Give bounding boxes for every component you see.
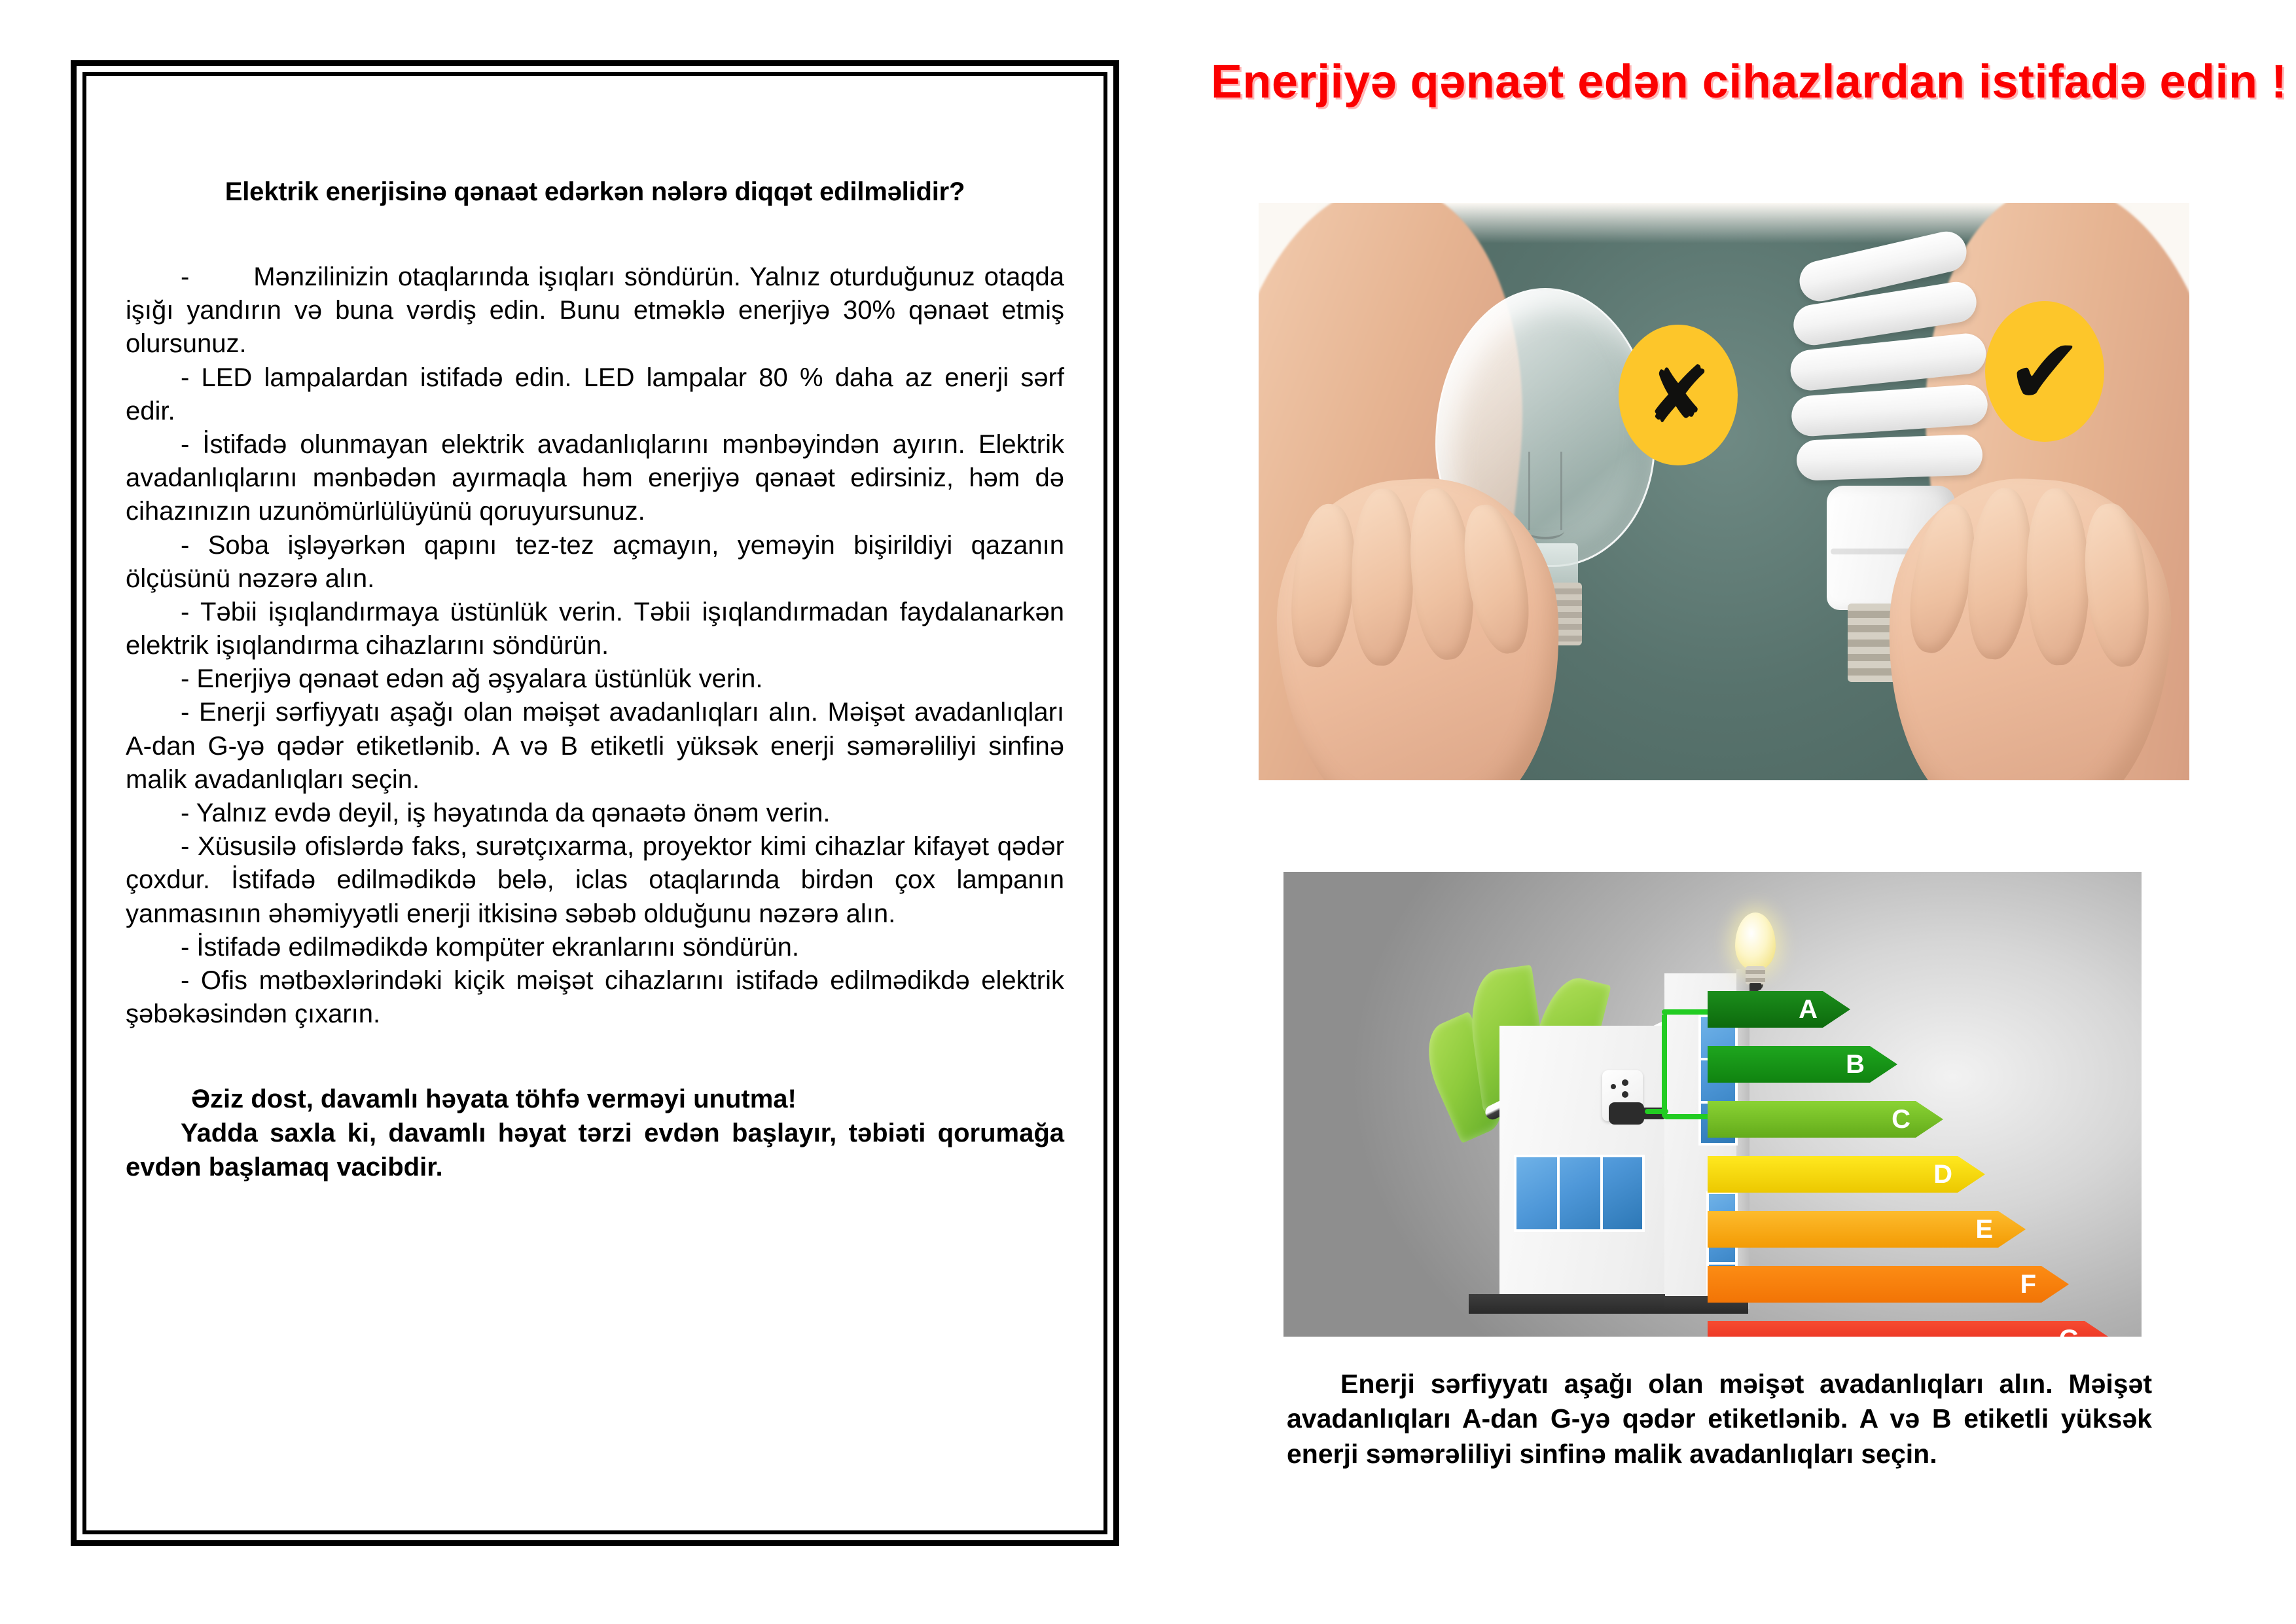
tip-item: - Ofis mətbəxlərindəki kiçik məişət ciha…: [126, 964, 1064, 1031]
tip-item: - Təbii işıqlandırmaya üstünlük verin. T…: [126, 596, 1064, 662]
cfl-coil: [1784, 242, 2006, 504]
socket-hole: [1611, 1084, 1616, 1089]
plug-icon: [1609, 1102, 1644, 1125]
house-foundation: [1469, 1294, 1665, 1314]
tip-item: - Enerjiyə qənaət edən ağ əşyalara üstün…: [126, 662, 1064, 696]
energy-bar-F: F: [1708, 1266, 2069, 1303]
energy-bar-label: C: [1892, 1105, 1910, 1134]
document-content: Elektrik enerjisinə qənaət edərkən nələr…: [86, 76, 1103, 1530]
energy-bar-E: E: [1708, 1211, 2026, 1248]
energy-bar-A: A: [1708, 991, 1850, 1028]
socket-hole: [1622, 1079, 1628, 1086]
tip-item: - Xüsusilə ofislərdə faks, surətçıxarma,…: [126, 830, 1064, 931]
poster-title: Enerjiyə qənaət edən cihazlardan istifad…: [1211, 55, 2258, 109]
tip-item: - İstifadə olunmayan elektrik avadanlıql…: [126, 428, 1064, 529]
document-panel: Elektrik enerjisinə qənaət edərkən nələr…: [71, 60, 1119, 1546]
cross-badge-icon: ✘: [1619, 325, 1738, 465]
caption-text: Enerji sərfiyyatı aşağı olan məişət avad…: [1287, 1367, 2152, 1471]
finger: [1350, 488, 1415, 666]
filament: [1528, 452, 1562, 530]
tip-item: - LED lampalardan istifadə edin. LED lam…: [126, 361, 1064, 428]
energy-bar-G: G: [1708, 1321, 2112, 1337]
finger: [2026, 488, 2090, 666]
tip-item: - Yalnız evdə deyil, iş həyatında da qən…: [126, 797, 1064, 830]
check-badge-icon: ✔: [1985, 301, 2104, 442]
energy-bar-label: A: [1799, 995, 1818, 1024]
incandescent-vs-cfl-bulbs-photo: ✘ ✔: [1259, 203, 2189, 780]
coil-turn: [1790, 384, 1989, 438]
tips-list: - Mənzilinizin otaqlarında işıqları sönd…: [126, 261, 1064, 1031]
tip-item: - İstifadə edilmədikdə kompüter ekranlar…: [126, 931, 1064, 964]
socket-hole: [1622, 1091, 1628, 1098]
closing-line: Əziz dost, davamlı həyata töhfə verməyi …: [126, 1082, 1064, 1116]
tip-item: - Soba işləyərkən qapını tez-tez açmayın…: [126, 529, 1064, 596]
energy-bar-label: E: [1975, 1215, 1993, 1244]
closing-message: Əziz dost, davamlı həyata töhfə verməyi …: [126, 1082, 1064, 1184]
coil-turn: [1796, 434, 1983, 481]
closing-line: Yadda saxla ki, davamlı həyat tərzi evdə…: [126, 1116, 1064, 1184]
energy-bar-D: D: [1708, 1156, 1985, 1193]
window: [1514, 1155, 1645, 1232]
energy-bar-label: D: [1933, 1160, 1952, 1189]
document-panel-inner-border: Elektrik enerjisinə qənaət edərkən nələr…: [82, 72, 1107, 1534]
energy-bar-label: B: [1846, 1050, 1865, 1079]
energy-bar-C: C: [1708, 1101, 1943, 1138]
energy-caption: Enerji sərfiyyatı aşağı olan məişət avad…: [1287, 1367, 2152, 1471]
lightbulb-contact: [1749, 983, 1761, 990]
wire: [1662, 1015, 1708, 1119]
tip-item: - Enerji sərfiyyatı aşağı olan məişət av…: [126, 696, 1064, 797]
poster-panel: Enerjiyə qənaət edən cihazlardan istifad…: [1172, 0, 2296, 1624]
page-title: Elektrik enerjisinə qənaət edərkən nələr…: [126, 177, 1064, 207]
energy-bar-label: F: [2020, 1270, 2036, 1299]
tip-item: - Mənzilinizin otaqlarında işıqları sönd…: [126, 261, 1064, 361]
energy-bar-B: B: [1708, 1046, 1897, 1083]
finger: [1962, 486, 2037, 662]
lightbulb-base: [1746, 966, 1765, 984]
energy-bar-label: G: [2059, 1325, 2079, 1337]
energy-efficiency-house-illustration: A B C D E F G: [1283, 872, 2142, 1337]
